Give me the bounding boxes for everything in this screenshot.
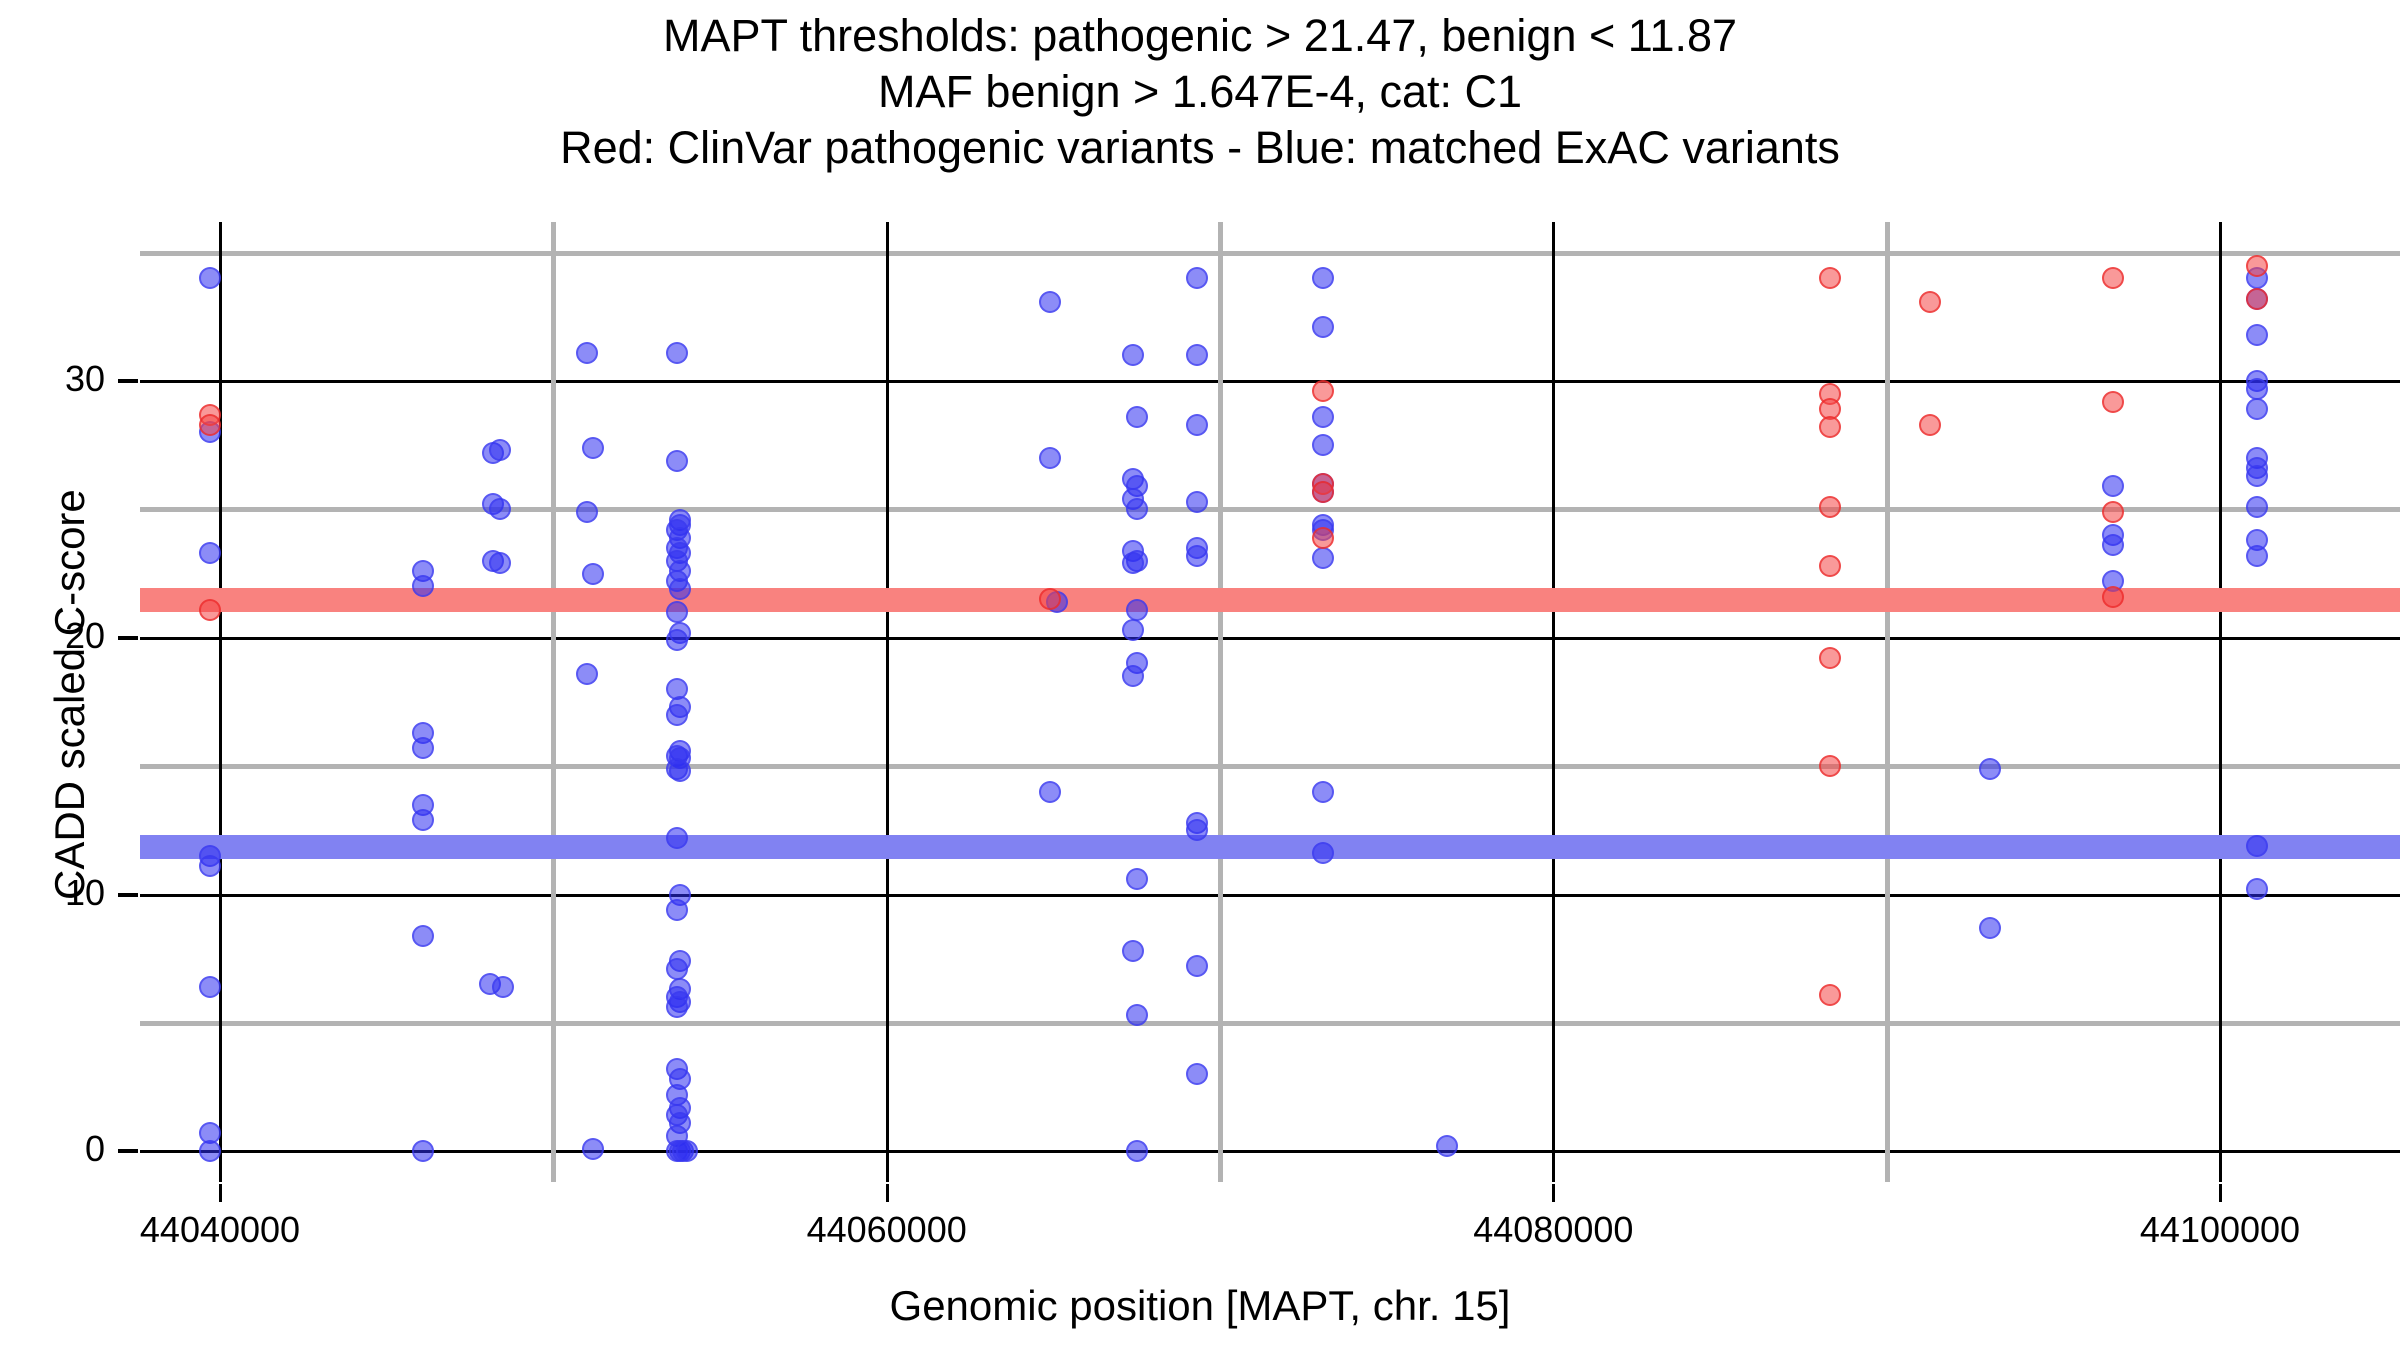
- scatter-point-benign: [1126, 498, 1148, 520]
- y-tick-mark: [118, 1149, 138, 1153]
- scatter-point-benign: [582, 437, 604, 459]
- gridline-horizontal-minor: [140, 251, 2400, 256]
- scatter-point-benign: [576, 501, 598, 523]
- threshold-band-pathogenic: [140, 588, 2400, 612]
- gridline-vertical-major: [886, 222, 889, 1182]
- title-line-1: MAPT thresholds: pathogenic > 21.47, ben…: [0, 8, 2400, 64]
- gridline-horizontal-major: [140, 1150, 2400, 1153]
- scatter-point-benign: [2246, 835, 2268, 857]
- scatter-point-benign: [1126, 1140, 1148, 1162]
- x-tick-mark: [2219, 1184, 2222, 1202]
- y-axis-label: CADD scaled C-score: [46, 489, 94, 900]
- scatter-point-benign: [1039, 291, 1061, 313]
- scatter-point-benign: [2246, 378, 2268, 400]
- scatter-point-benign: [1126, 406, 1148, 428]
- scatter-point-benign: [412, 1140, 434, 1162]
- scatter-point-benign: [666, 996, 688, 1018]
- scatter-point-benign: [1186, 344, 1208, 366]
- x-tick-mark: [1552, 1184, 1555, 1202]
- scatter-point-benign: [1186, 819, 1208, 841]
- x-axis-label: Genomic position [MAPT, chr. 15]: [0, 1282, 2400, 1330]
- scatter-point-pathogenic: [2246, 288, 2268, 310]
- gridline-vertical-minor: [1218, 222, 1223, 1182]
- gridline-horizontal-minor: [140, 507, 2400, 512]
- scatter-point-pathogenic: [1819, 755, 1841, 777]
- y-tick-label: 30: [0, 359, 105, 399]
- scatter-point-benign: [1312, 781, 1334, 803]
- scatter-point-benign: [669, 760, 691, 782]
- scatter-point-benign: [1186, 1063, 1208, 1085]
- gridline-vertical-major: [1552, 222, 1555, 1182]
- scatter-point-benign: [1039, 447, 1061, 469]
- scatter-point-benign: [582, 1138, 604, 1160]
- scatter-point-benign: [1126, 868, 1148, 890]
- scatter-point-benign: [1186, 267, 1208, 289]
- gridline-horizontal-major: [140, 380, 2400, 383]
- scatter-point-benign: [489, 552, 511, 574]
- scatter-point-benign: [666, 450, 688, 472]
- scatter-point-benign: [1312, 547, 1334, 569]
- scatter-point-benign: [666, 629, 688, 651]
- scatter-point-pathogenic: [1312, 481, 1334, 503]
- scatter-point-benign: [666, 342, 688, 364]
- y-tick-mark: [118, 379, 138, 383]
- scatter-point-pathogenic: [2246, 255, 2268, 277]
- scatter-point-benign: [2246, 496, 2268, 518]
- scatter-point-pathogenic: [1819, 416, 1841, 438]
- scatter-point-benign: [1186, 414, 1208, 436]
- scatter-point-benign: [2102, 534, 2124, 556]
- title-line-2: MAF benign > 1.647E-4, cat: C1: [0, 64, 2400, 120]
- scatter-point-benign: [1039, 781, 1061, 803]
- y-tick-mark: [118, 636, 138, 640]
- gridline-horizontal-minor: [140, 1021, 2400, 1026]
- scatter-point-benign: [1186, 491, 1208, 513]
- scatter-point-pathogenic: [1819, 647, 1841, 669]
- scatter-point-pathogenic: [1819, 496, 1841, 518]
- title-line-3: Red: ClinVar pathogenic variants - Blue:…: [0, 120, 2400, 176]
- scatter-point-benign: [1979, 758, 2001, 780]
- scatter-point-benign: [669, 578, 691, 600]
- scatter-point-pathogenic: [199, 414, 221, 436]
- scatter-point-benign: [666, 827, 688, 849]
- scatter-point-benign: [412, 737, 434, 759]
- scatter-point-benign: [2246, 324, 2268, 346]
- scatter-point-pathogenic: [1919, 414, 1941, 436]
- scatter-point-pathogenic: [199, 599, 221, 621]
- x-tick-label: 44040000: [70, 1210, 370, 1250]
- scatter-point-benign: [676, 1140, 698, 1162]
- scatter-point-benign: [492, 976, 514, 998]
- scatter-point-benign: [666, 704, 688, 726]
- scatter-point-pathogenic: [2102, 501, 2124, 523]
- plot-area: [140, 222, 2400, 1182]
- scatter-point-benign: [199, 542, 221, 564]
- scatter-point-benign: [489, 498, 511, 520]
- scatter-point-pathogenic: [1919, 291, 1941, 313]
- scatter-point-benign: [666, 899, 688, 921]
- scatter-point-benign: [199, 976, 221, 998]
- scatter-point-pathogenic: [1819, 555, 1841, 577]
- gridline-vertical-minor: [1885, 222, 1890, 1182]
- scatter-point-benign: [2246, 878, 2268, 900]
- scatter-point-benign: [412, 925, 434, 947]
- scatter-point-benign: [199, 855, 221, 877]
- x-tick-mark: [219, 1184, 222, 1202]
- chart-title: MAPT thresholds: pathogenic > 21.47, ben…: [0, 8, 2400, 176]
- scatter-point-benign: [666, 958, 688, 980]
- scatter-point-benign: [1312, 316, 1334, 338]
- scatter-point-pathogenic: [1312, 527, 1334, 549]
- scatter-point-benign: [489, 439, 511, 461]
- scatter-point-benign: [1979, 917, 2001, 939]
- scatter-point-pathogenic: [2102, 586, 2124, 608]
- scatter-point-benign: [1122, 344, 1144, 366]
- y-tick-mark: [118, 893, 138, 897]
- gridline-vertical-major: [219, 222, 222, 1182]
- scatter-point-pathogenic: [1819, 984, 1841, 1006]
- scatter-point-benign: [1122, 940, 1144, 962]
- scatter-point-benign: [1126, 599, 1148, 621]
- x-tick-label: 44080000: [1403, 1210, 1703, 1250]
- gridline-horizontal-major: [140, 894, 2400, 897]
- scatter-point-benign: [1312, 267, 1334, 289]
- scatter-point-benign: [1122, 665, 1144, 687]
- cadd-scatter-figure: MAPT thresholds: pathogenic > 21.47, ben…: [0, 0, 2400, 1350]
- gridline-horizontal-major: [140, 637, 2400, 640]
- gridline-vertical-major: [2219, 222, 2222, 1182]
- scatter-point-benign: [199, 267, 221, 289]
- scatter-point-benign: [576, 663, 598, 685]
- threshold-band-benign: [140, 835, 2400, 859]
- gridline-horizontal-minor: [140, 764, 2400, 769]
- scatter-point-benign: [2246, 545, 2268, 567]
- scatter-point-benign: [199, 1140, 221, 1162]
- y-tick-label: 0: [0, 1129, 105, 1169]
- scatter-point-benign: [1186, 955, 1208, 977]
- scatter-point-benign: [576, 342, 598, 364]
- scatter-point-pathogenic: [2102, 391, 2124, 413]
- scatter-point-benign: [2246, 398, 2268, 420]
- scatter-point-benign: [666, 601, 688, 623]
- gridline-vertical-minor: [551, 222, 556, 1182]
- scatter-point-pathogenic: [2102, 267, 2124, 289]
- scatter-point-benign: [412, 809, 434, 831]
- scatter-point-benign: [1312, 406, 1334, 428]
- scatter-point-benign: [1126, 1004, 1148, 1026]
- scatter-point-benign: [1312, 434, 1334, 456]
- x-tick-label: 44060000: [737, 1210, 1037, 1250]
- scatter-point-benign: [1436, 1135, 1458, 1157]
- scatter-point-benign: [2102, 475, 2124, 497]
- scatter-point-pathogenic: [1312, 380, 1334, 402]
- x-tick-mark: [886, 1184, 889, 1202]
- scatter-point-pathogenic: [1819, 267, 1841, 289]
- scatter-point-benign: [1312, 842, 1334, 864]
- x-tick-label: 44100000: [2070, 1210, 2370, 1250]
- scatter-point-benign: [2246, 465, 2268, 487]
- scatter-point-benign: [582, 563, 604, 585]
- scatter-point-benign: [1186, 545, 1208, 567]
